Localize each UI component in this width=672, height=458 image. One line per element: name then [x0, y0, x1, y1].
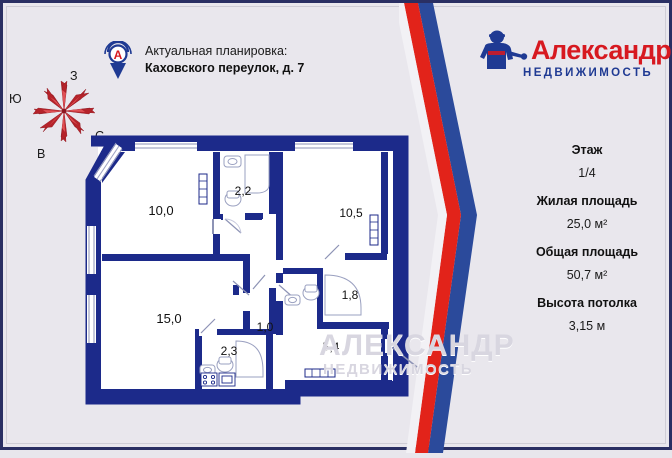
total-area-label: Общая площадь [501, 245, 672, 259]
window-top-left [135, 142, 197, 151]
area-label-1-8: 1,8 [342, 288, 359, 302]
living-area-value: 25,0 м² [501, 217, 672, 231]
area-label-2-3: 2,3 [221, 344, 238, 358]
floor-value: 1/4 [501, 166, 672, 180]
logo-subtitle: НЕДВИЖИМОСТЬ [523, 67, 653, 79]
radiator-room-10-5 [370, 215, 378, 245]
area-label-15-0: 15,0 [156, 311, 181, 326]
area-label-10-0: 10,0 [148, 203, 173, 218]
ceiling-height-value: 3,15 м [501, 319, 672, 333]
area-label-1-0: 1,0 [257, 320, 274, 334]
window-left-upper [87, 226, 96, 274]
total-area-value: 50,7 м² [501, 268, 672, 282]
radiator-top-room-10 [199, 174, 207, 204]
area-label-5-4: 5,4 [323, 340, 340, 354]
compass-label-east: В [37, 147, 45, 161]
ceiling-height-label: Высота потолка [501, 296, 672, 310]
window-top-right [295, 142, 353, 151]
man-with-key-icon [473, 29, 529, 81]
compass-label-south: Ю [9, 92, 22, 106]
header-text: Актуальная планировка: Каховского переул… [145, 43, 405, 77]
header-line1: Актуальная планировка: [145, 43, 405, 60]
property-info-panel: Этаж 1/4 Жилая площадь 25,0 м² Общая пло… [501, 143, 672, 333]
company-logo: Александр НЕДВИЖИМОСТЬ [473, 29, 671, 91]
living-area-label: Жилая площадь [501, 194, 672, 208]
compass-label-west: З [70, 69, 78, 83]
area-label-2-2: 2,2 [235, 184, 252, 198]
apartment-floor-plan: 10,0 15,0 10,5 2,2 2,3 1,8 1,0 5,4 АЛЕКС… [73, 133, 423, 405]
floor-plan-image: А Актуальная планировка: Каховского пере… [0, 0, 672, 450]
logo-name: Александр [531, 35, 671, 66]
area-label-10-5: 10,5 [339, 206, 363, 220]
header: А Актуальная планировка: Каховского пере… [103, 41, 403, 91]
window-left-lower [87, 295, 96, 343]
radiator-bottom [305, 369, 335, 377]
floor-label: Этаж [501, 143, 672, 157]
header-line2: Каховского переулок, д. 7 [145, 60, 405, 77]
